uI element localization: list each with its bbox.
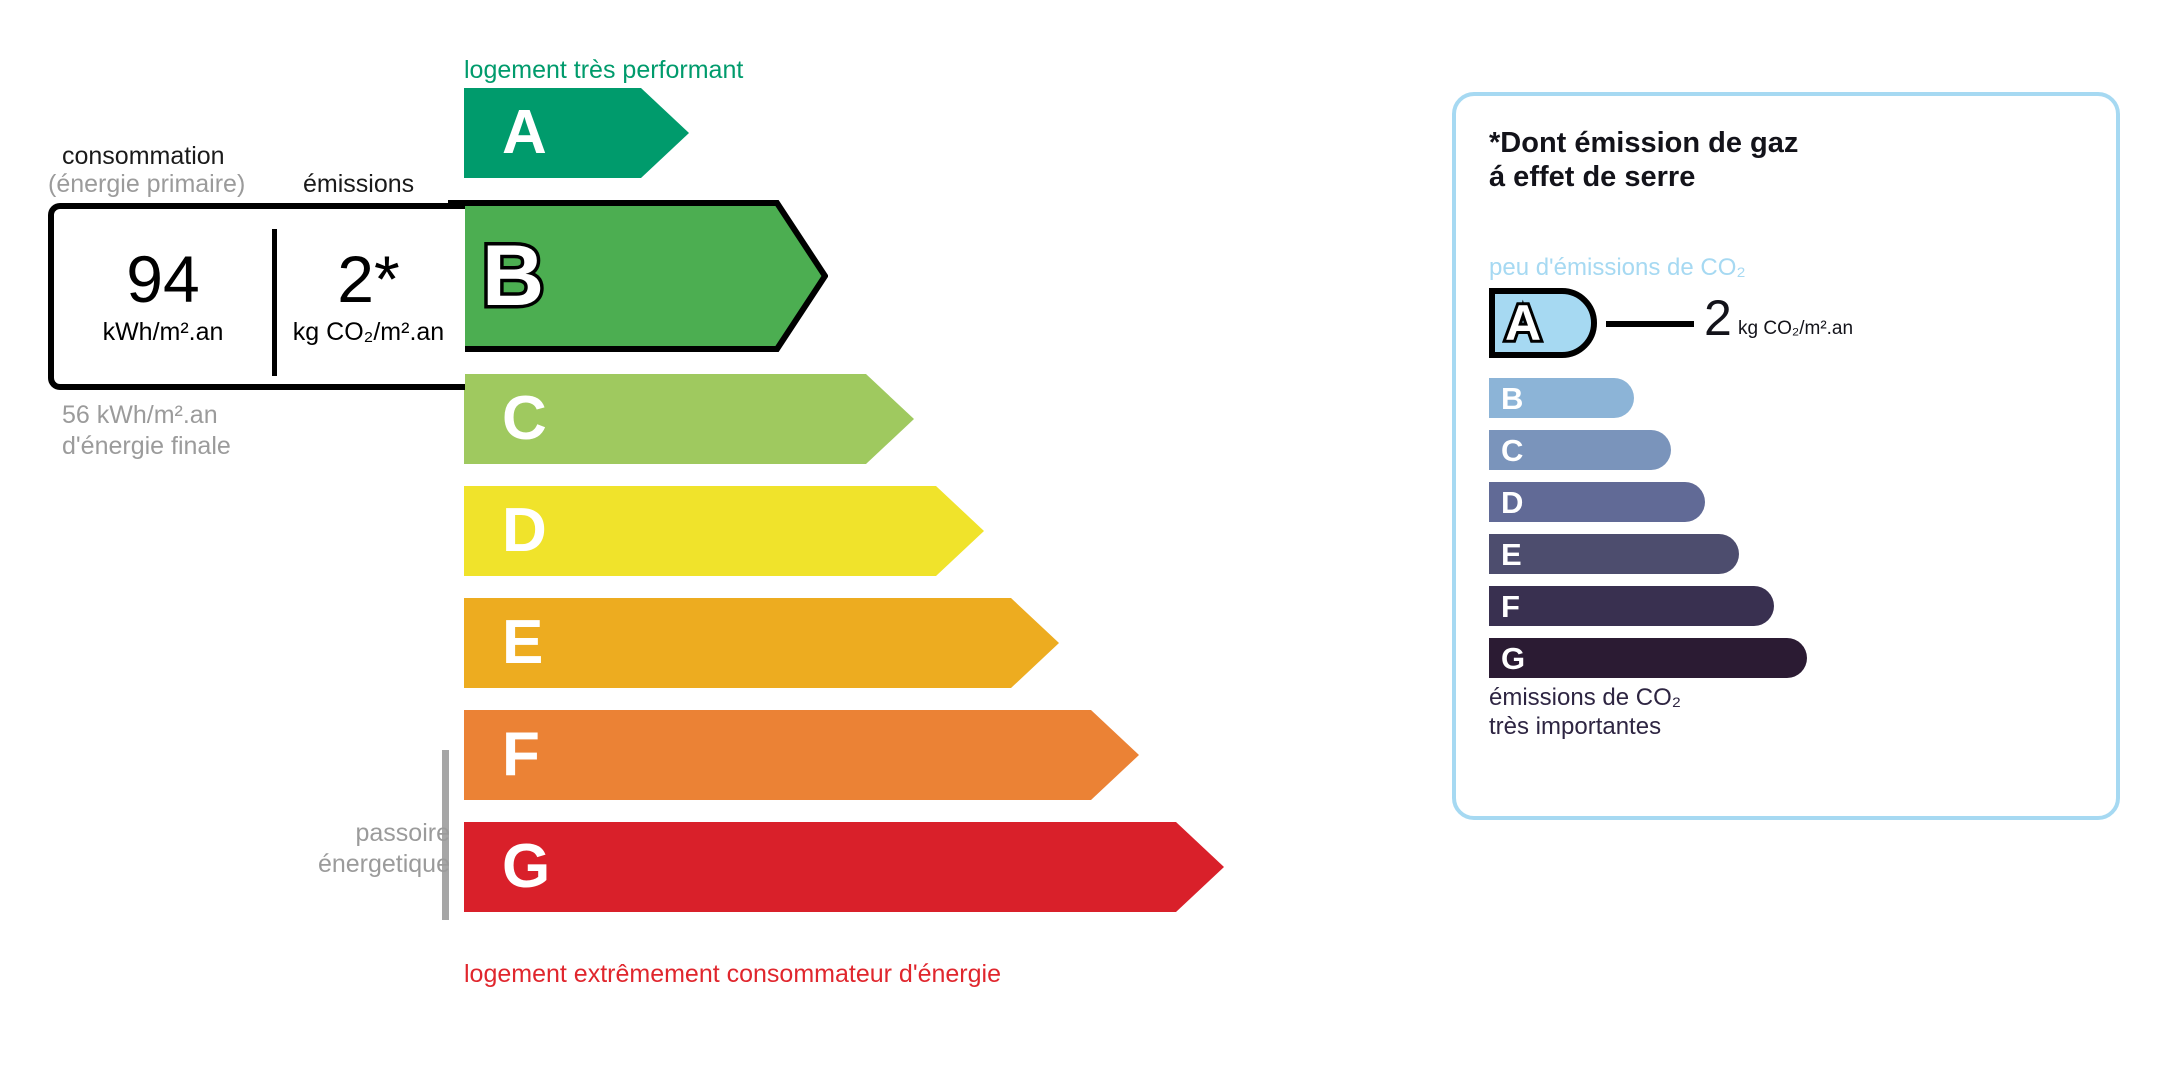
final-energy-line1: 56 kWh/m².an [62,400,231,431]
final-energy-note: 56 kWh/m².an d'énergie finale [62,400,231,463]
label-consommation: consommation [62,142,225,171]
co2-bottom-caption: émissions de CO₂ très importantes [1489,684,1681,742]
energy-class-arrow-shape-g [464,822,1224,912]
emissions-unit: kg CO₂/m².an [293,318,444,347]
co2-top-caption: peu d'émissions de CO₂ [1489,254,1746,282]
co2-class-letter-d: D [1501,487,1523,518]
co2-class-letter-e: E [1501,539,1522,570]
co2-current-class-letter: A [1505,298,1541,348]
co2-leader-line [1606,321,1694,327]
consumption-value: 94 [126,246,199,312]
co2-value-unit: kg CO₂/m².an [1738,318,1853,340]
energy-class-arrow-c: C [464,374,914,464]
caption-logement-extreme: logement extrêmement consommateur d'éner… [464,960,1001,989]
dpe-value-box: 94 kWh/m².an 2* kg CO₂/m².an [48,203,465,390]
co2-class-letter-f: F [1501,591,1520,622]
co2-current-class-badge: A [1489,288,1597,358]
consumption-unit: kWh/m².an [103,318,224,347]
dpe-energy-scale: consommation (énergie primaire) émission… [0,0,1400,1079]
energy-class-letter-e: E [502,612,543,674]
co2-class-bar-c: C [1489,430,1671,470]
passoire-energetique-label: passoire énergetique [270,818,450,881]
energy-class-arrow-g: G [464,822,1224,912]
caption-logement-tres-performant: logement très performant [464,56,743,85]
energy-class-letter-g: G [502,836,550,898]
energy-class-arrow-a: A [464,88,689,178]
emissions-value: 2* [337,246,399,312]
co2-class-bar-d: D [1489,482,1705,522]
energy-class-arrow-b: B [448,200,828,352]
energy-class-arrow-shape-f [464,710,1139,800]
co2-class-letter-g: G [1501,643,1525,674]
energy-class-arrow-e: E [464,598,1059,688]
passoire-line2: énergetique [270,849,450,880]
co2-panel-title: *Dont émission de gaz á effet de serre [1489,126,1798,194]
co2-class-letter-c: C [1501,435,1523,466]
energy-class-arrow-shape-e [464,598,1059,688]
label-energie-primaire: (énergie primaire) [48,170,245,199]
co2-class-letter-b: B [1501,383,1523,414]
energy-class-letter-b: B [482,233,544,319]
final-energy-line2: d'énergie finale [62,431,231,462]
co2-class-bar-f: F [1489,586,1774,626]
label-emissions: émissions [303,170,414,199]
energy-class-letter-a: A [502,102,547,164]
co2-value: 2 [1704,293,1732,343]
consumption-value-cell: 94 kWh/m².an [54,209,272,384]
energy-class-letter-d: D [502,500,547,562]
energy-class-arrow-shape-a [464,88,689,178]
emissions-value-cell: 2* kg CO₂/m².an [272,209,465,384]
energy-class-arrow-d: D [464,486,984,576]
energy-class-letter-f: F [502,724,540,786]
co2-panel: *Dont émission de gaz á effet de serre p… [1452,92,2120,820]
co2-class-bar-g: G [1489,638,1807,678]
energy-class-arrow-f: F [464,710,1139,800]
energy-class-letter-c: C [502,388,547,450]
co2-class-bar-b: B [1489,378,1634,418]
passoire-line1: passoire [270,818,450,849]
co2-class-bar-e: E [1489,534,1739,574]
